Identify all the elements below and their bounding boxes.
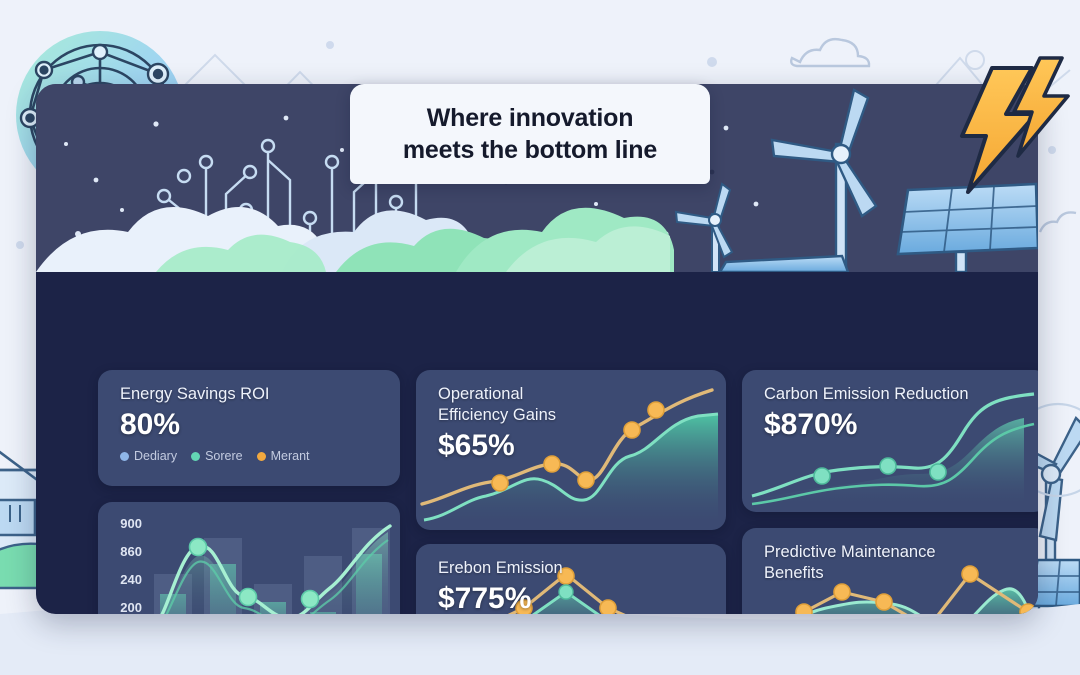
card-erebon-emission[interactable]: Erebon Emission $775% [416, 544, 726, 614]
card-predictive-title: Predictive Maintenance Benefits [764, 542, 936, 584]
card-predictive-maintenance-benefits[interactable]: Predictive Maintenance Benefits [742, 528, 1038, 614]
legend-dot-icon [120, 452, 129, 461]
card-carbon-title: Carbon Emission Reduction [764, 384, 969, 405]
ytick-label: 200 [120, 600, 142, 614]
card-operational-efficiency-gains[interactable]: Operational Efficiency Gains $65% [416, 370, 726, 530]
card-performance-trend[interactable]: 900 860 240 200 0 100 200 190 100 200 [98, 502, 400, 614]
card-operational-title: Operational Efficiency Gains [438, 384, 556, 426]
legend-label: Dediary [134, 449, 177, 463]
ytick-label: 860 [120, 544, 142, 559]
ytick-label: 240 [120, 572, 142, 587]
card-energy-legend: Dediary Sorere Merant [120, 449, 310, 463]
card-energy-title: Energy Savings ROI [120, 384, 310, 405]
headline-banner: Where innovation meets the bottom line [350, 84, 710, 184]
legend-dot-icon [191, 452, 200, 461]
card-carbon-value: $870% [764, 407, 969, 443]
card-erebon-title: Erebon Emission [438, 558, 563, 579]
card-energy-value: 80% [120, 407, 310, 443]
legend-dot-icon [257, 452, 266, 461]
card-energy-text: Energy Savings ROI 80% Dediary Sorere [120, 384, 310, 463]
headline-line-1: Where innovation [427, 102, 634, 134]
legend-label: Merant [271, 449, 310, 463]
kpi-grid: Energy Savings ROI 80% Dediary Sorere [98, 370, 1038, 614]
illustration-canvas: AI. [0, 0, 1080, 675]
card-operational-value: $65% [438, 428, 556, 464]
card-erebon-text: Erebon Emission $775% [438, 558, 563, 614]
ytick-label: 900 [120, 516, 142, 531]
headline-line-2: meets the bottom line [403, 134, 657, 166]
legend-label: Sorere [205, 449, 243, 463]
chart-performance-trend: 900 860 240 200 0 100 200 190 100 200 [98, 502, 400, 614]
lightning-bolts-graphic [940, 52, 1080, 197]
card-predictive-text: Predictive Maintenance Benefits [764, 542, 936, 584]
card-carbon-emission-reduction[interactable]: Carbon Emission Reduction $870% [742, 370, 1038, 512]
card-carbon-text: Carbon Emission Reduction $870% [764, 384, 969, 443]
legend-item: Sorere [191, 449, 243, 463]
legend-item: Merant [257, 449, 310, 463]
legend-item: Dediary [120, 449, 177, 463]
card-operational-text: Operational Efficiency Gains $65% [438, 384, 556, 464]
card-energy-savings-roi[interactable]: Energy Savings ROI 80% Dediary Sorere [98, 370, 400, 486]
card-erebon-value: $775% [438, 581, 563, 614]
